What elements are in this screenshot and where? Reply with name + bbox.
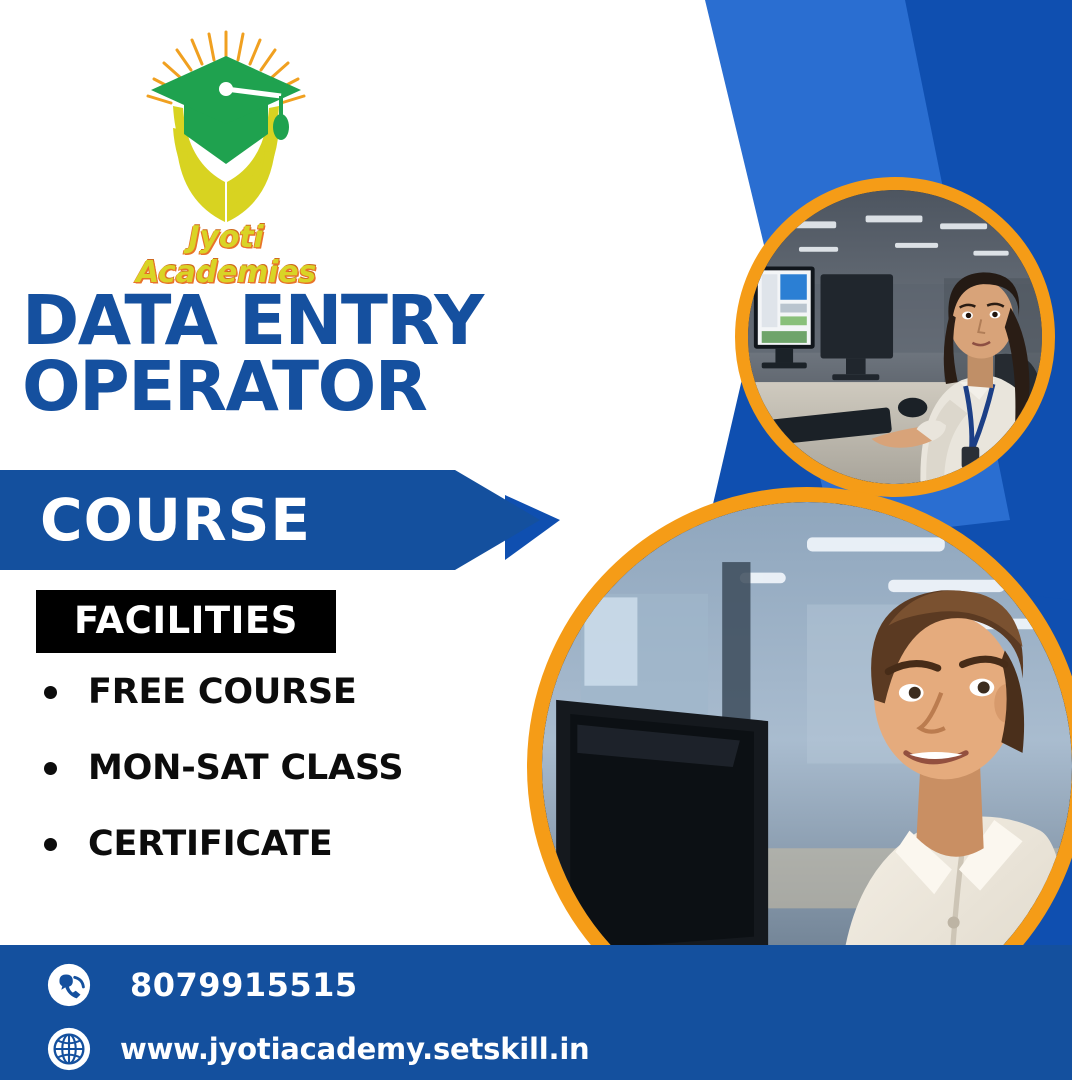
contact-phone-value: 8079915515 — [130, 966, 358, 1004]
page-title-line-2: OPERATOR — [22, 354, 662, 420]
globe-icon — [46, 1026, 92, 1072]
list-item: MON-SAT CLASS — [36, 748, 506, 788]
photo-female-operator — [735, 177, 1055, 497]
graduation-cap-book-sun-logo-icon — [121, 24, 331, 224]
brand-logo: Jyoti Academies — [96, 24, 356, 290]
course-banner: COURSE — [0, 470, 540, 570]
facilities-list: FREE COURSE MON-SAT CLASS CERTIFICATE — [36, 672, 506, 900]
brand-wordmark: Jyoti Academies — [96, 220, 356, 290]
facilities-heading-label: FACILITIES — [74, 599, 298, 642]
contact-phone[interactable]: 8079915515 — [46, 962, 358, 1008]
poster-canvas: Jyoti Academies DATA ENTRY OPERATOR COUR… — [0, 0, 1072, 1080]
contact-website-value: www.jyotiacademy.setskill.in — [120, 1032, 590, 1066]
photo-female-operator-image — [748, 190, 1042, 484]
facilities-heading: FACILITIES — [36, 590, 336, 653]
course-banner-label: COURSE — [0, 486, 311, 554]
page-title: DATA ENTRY OPERATOR — [22, 288, 662, 420]
bullet-icon — [44, 686, 57, 699]
list-item-label: CERTIFICATE — [88, 824, 332, 864]
bullet-icon — [44, 762, 57, 775]
phone-call-icon — [46, 962, 92, 1008]
list-item: FREE COURSE — [36, 672, 506, 712]
contact-website[interactable]: www.jyotiacademy.setskill.in — [46, 1026, 590, 1072]
list-item: CERTIFICATE — [36, 824, 506, 864]
list-item-label: FREE COURSE — [88, 672, 357, 712]
bullet-icon — [44, 838, 57, 851]
list-item-label: MON-SAT CLASS — [88, 748, 403, 788]
